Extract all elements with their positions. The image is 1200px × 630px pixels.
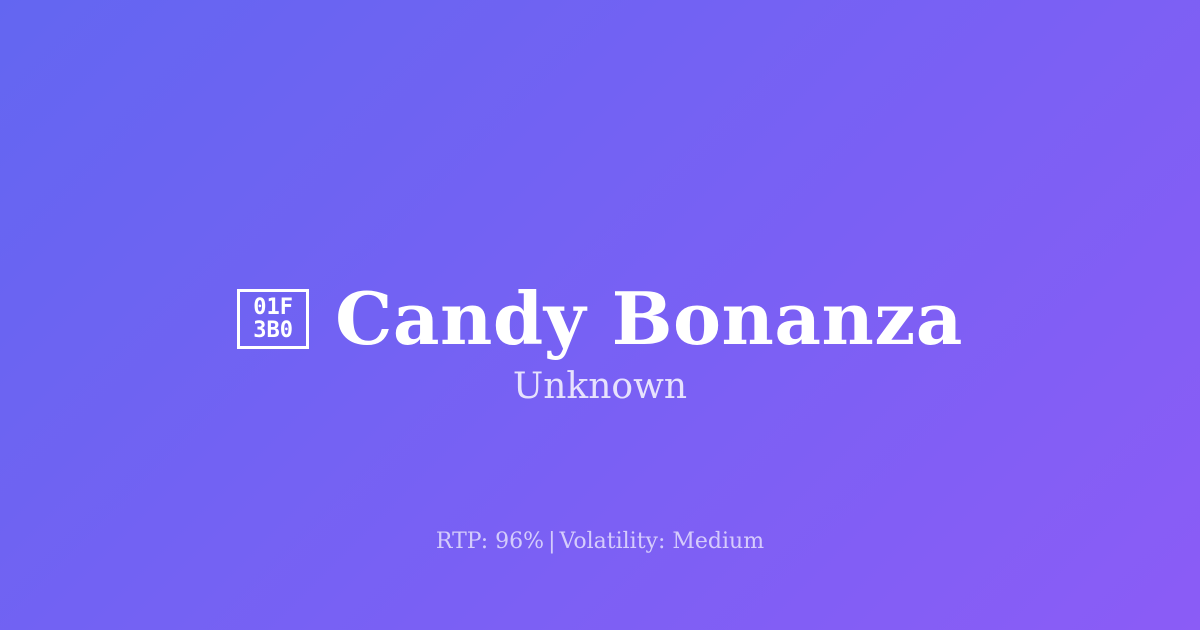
volatility-stat: Volatility: Medium	[560, 529, 765, 554]
slot-machine-icon-codepoint-top: 01F	[253, 296, 293, 319]
rtp-stat: RTP: 96%	[436, 529, 544, 554]
game-stats: RTP: 96%|Volatility: Medium	[0, 527, 1200, 557]
game-info-card: 01F 3B0 Candy Bonanza Unknown RTP: 96%|V…	[0, 0, 1200, 630]
slot-machine-icon-codepoint-bottom: 3B0	[253, 319, 293, 342]
game-title: Candy Bonanza	[335, 280, 963, 358]
stats-separator: |	[544, 529, 559, 554]
game-provider: Unknown	[0, 365, 1200, 409]
slot-machine-icon: 01F 3B0	[237, 289, 309, 349]
